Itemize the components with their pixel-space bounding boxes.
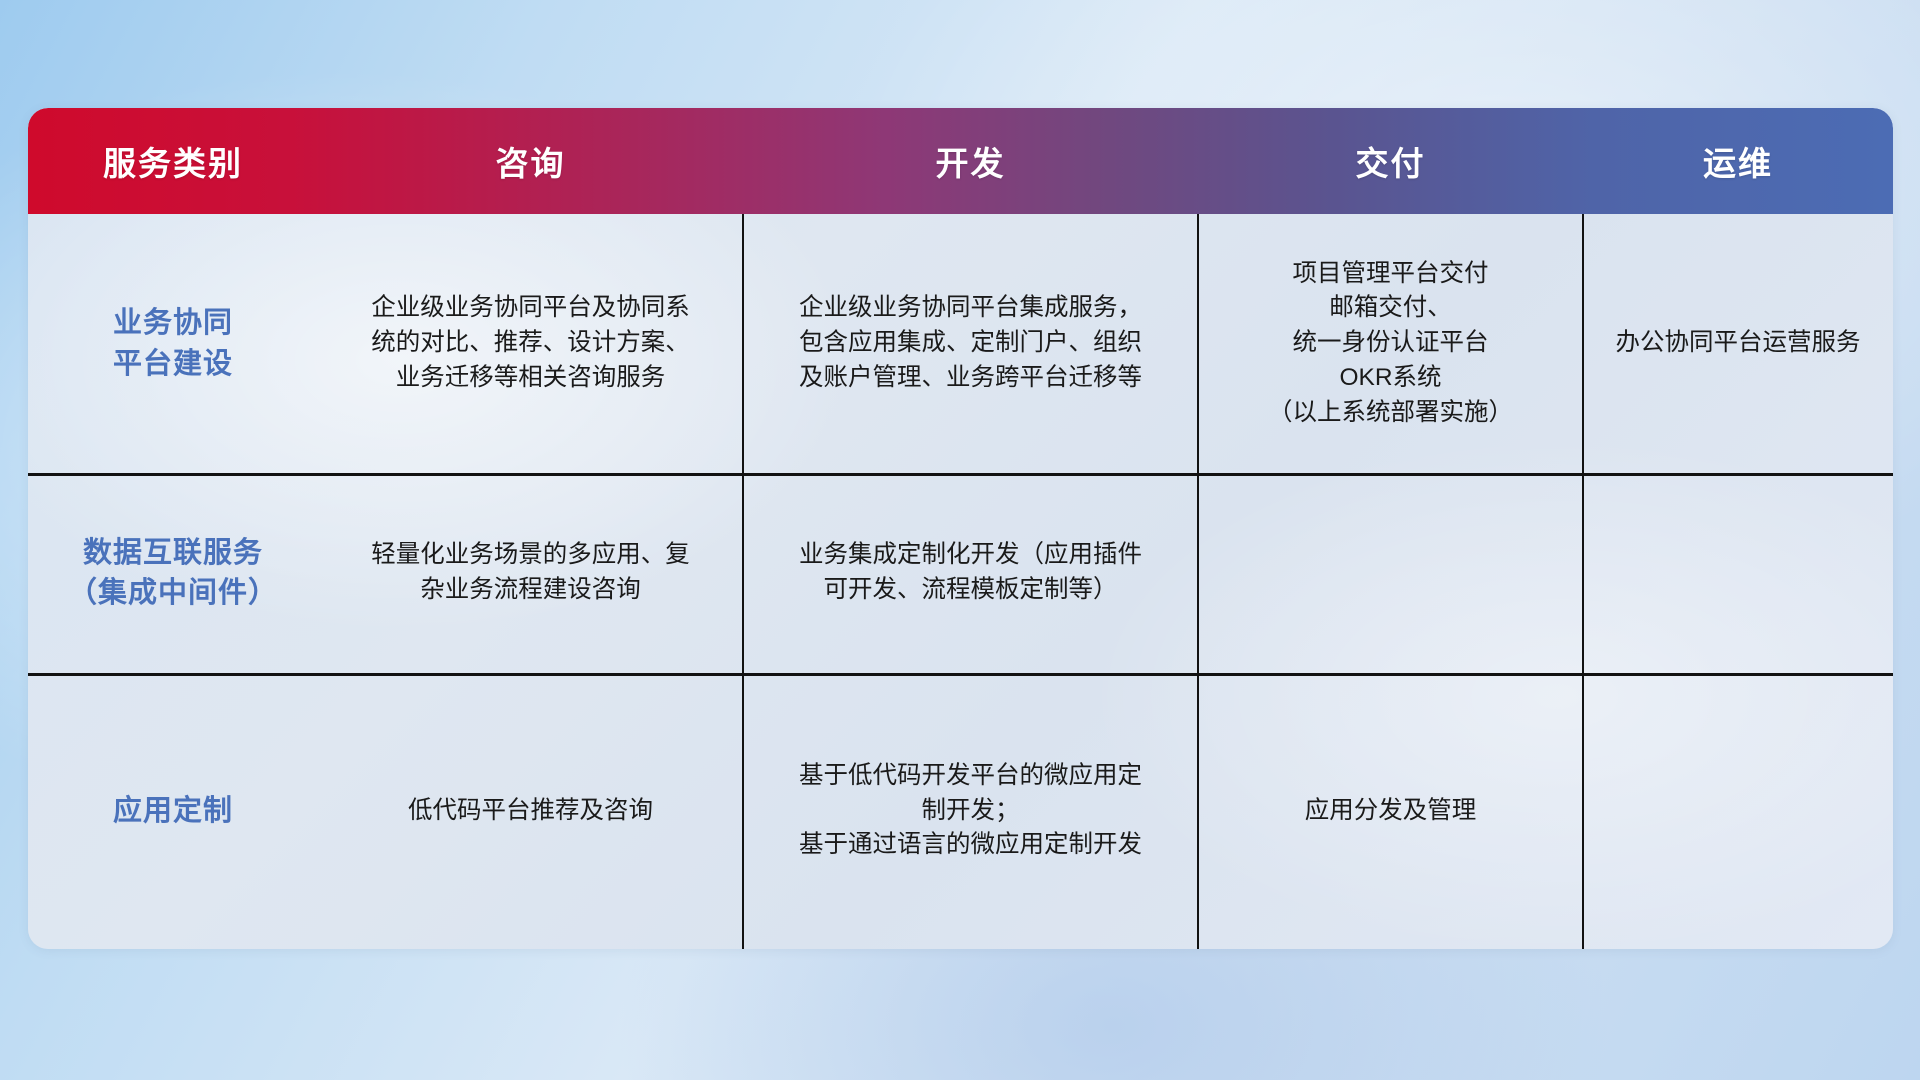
- table-header-row: 服务类别 咨询 开发 交付 运维: [28, 108, 1893, 214]
- table-row: 业务协同 平台建设 企业级业务协同平台及协同系 统的对比、推荐、设计方案、 业务…: [28, 214, 1893, 473]
- column-header-development: 开发: [743, 108, 1198, 214]
- column-divider-1: [742, 214, 744, 949]
- cell-row1-delivery: [1198, 473, 1583, 673]
- table-card: 服务类别 咨询 开发 交付 运维 业务协同 平台建设 企业级业务协同平台及协同系…: [28, 108, 1893, 949]
- cell-row2-consulting: 低代码平台推荐及咨询: [318, 673, 743, 949]
- row-header-app-customization: 应用定制: [28, 673, 318, 949]
- row-header-business-collaboration: 业务协同 平台建设: [28, 214, 318, 473]
- cell-row0-consulting: 企业级业务协同平台及协同系 统的对比、推荐、设计方案、 业务迁移等相关咨询服务: [318, 214, 743, 473]
- table-row: 应用定制 低代码平台推荐及咨询 基于低代码开发平台的微应用定 制开发； 基于通过…: [28, 673, 1893, 949]
- table-row: 数据互联服务 （集成中间件） 轻量化业务场景的多应用、复 杂业务流程建设咨询 业…: [28, 473, 1893, 673]
- slide-canvas: 服务类别 咨询 开发 交付 运维 业务协同 平台建设 企业级业务协同平台及协同系…: [0, 0, 1920, 1080]
- column-header-delivery: 交付: [1198, 108, 1583, 214]
- cell-row2-operations: [1583, 673, 1893, 949]
- cell-row2-delivery: 应用分发及管理: [1198, 673, 1583, 949]
- cell-row2-development: 基于低代码开发平台的微应用定 制开发； 基于通过语言的微应用定制开发: [743, 673, 1198, 949]
- column-divider-2: [1197, 214, 1199, 949]
- cell-row1-development: 业务集成定制化开发（应用插件 可开发、流程模板定制等）: [743, 473, 1198, 673]
- column-header-consulting: 咨询: [318, 108, 743, 214]
- row-header-data-integration: 数据互联服务 （集成中间件）: [28, 473, 318, 673]
- service-matrix-table: 服务类别 咨询 开发 交付 运维 业务协同 平台建设 企业级业务协同平台及协同系…: [28, 108, 1893, 949]
- row-divider-2: [28, 673, 1893, 676]
- cell-row0-delivery: 项目管理平台交付 邮箱交付、 统一身份认证平台 OKR系统 （以上系统部署实施）: [1198, 214, 1583, 473]
- table-body: 业务协同 平台建设 企业级业务协同平台及协同系 统的对比、推荐、设计方案、 业务…: [28, 214, 1893, 949]
- cell-row1-operations: [1583, 473, 1893, 673]
- column-header-category: 服务类别: [28, 108, 318, 214]
- row-divider-1: [28, 473, 1893, 476]
- column-divider-3: [1582, 214, 1584, 949]
- cell-row0-operations: 办公协同平台运营服务: [1583, 214, 1893, 473]
- cell-row1-consulting: 轻量化业务场景的多应用、复 杂业务流程建设咨询: [318, 473, 743, 673]
- column-header-operations: 运维: [1583, 108, 1893, 214]
- cell-row0-development: 企业级业务协同平台集成服务， 包含应用集成、定制门户、组织 及账户管理、业务跨平…: [743, 214, 1198, 473]
